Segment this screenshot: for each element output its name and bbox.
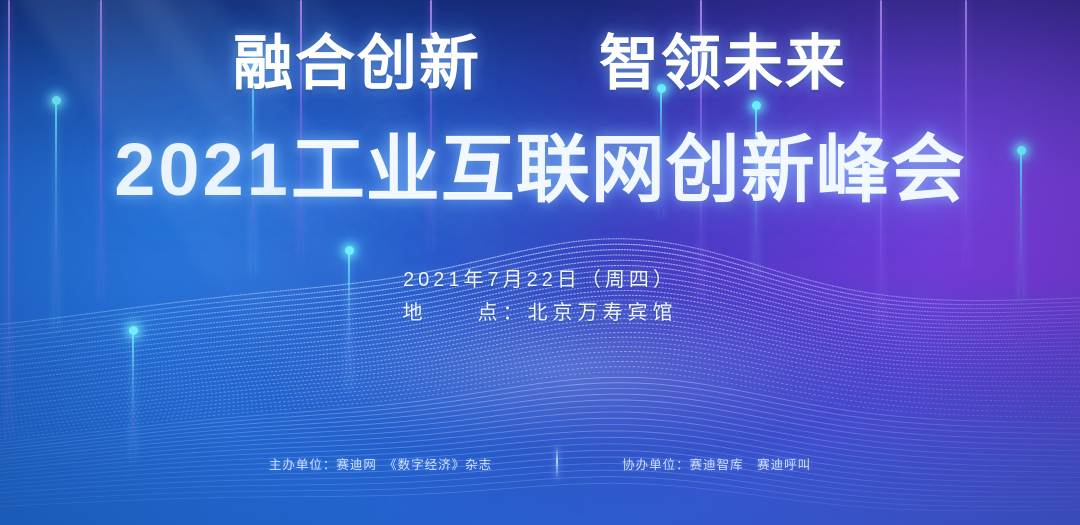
page-title: 2021工业互联网创新峰会 <box>0 133 1080 207</box>
headline-year: 2021 <box>114 128 291 211</box>
cohost-credit: 协办单位：赛迪智库 赛迪呼叫 <box>558 454 875 473</box>
event-date: 2021年7月22日（周四） <box>0 264 1080 297</box>
headline-text: 工业互联网创新峰会 <box>291 128 966 211</box>
poster-content: 融合创新 智领未来 2021工业互联网创新峰会 2021年7月22日（周四） 地… <box>0 0 1080 525</box>
tagline-left: 融合创新 <box>233 34 481 94</box>
event-venue: 地 点：北京万寿宾馆 <box>0 297 1080 330</box>
tagline-right: 智领未来 <box>599 34 847 94</box>
host-credit: 主办单位：赛迪网 《数字经济》杂志 <box>205 454 556 473</box>
event-details: 2021年7月22日（周四） 地 点：北京万寿宾馆 <box>0 264 1080 330</box>
conference-poster: 融合创新 智领未来 2021工业互联网创新峰会 2021年7月22日（周四） 地… <box>0 0 1080 525</box>
sponsor-credits: 主办单位：赛迪网 《数字经济》杂志 协办单位：赛迪智库 赛迪呼叫 <box>0 446 1080 480</box>
tagline-row: 融合创新 智领未来 <box>0 34 1080 94</box>
